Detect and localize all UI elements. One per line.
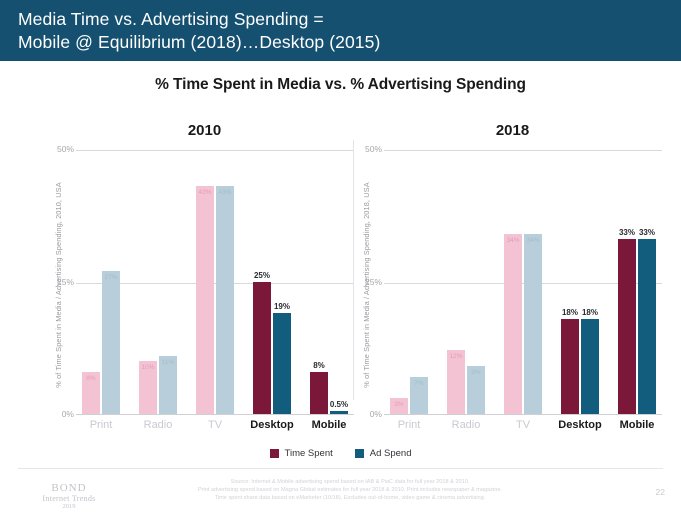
bar-group-print[interactable]: 3%7%Print <box>390 150 428 414</box>
bar-value-desktop-ad-spend: 19% <box>262 302 302 311</box>
bar-group-tv[interactable]: 43%43%TV <box>196 150 234 414</box>
x-axis-line <box>76 414 354 415</box>
bar-mobile-ad-spend[interactable] <box>330 411 348 414</box>
y-tick-0%: 0% <box>360 410 382 419</box>
bar-groups: 3%7%Print12%9%Radio34%34%TV18%18%Desktop… <box>384 150 662 414</box>
logo-year-text: 2019 <box>26 503 112 510</box>
legend-item-time-spent[interactable]: Time Spent <box>270 448 333 459</box>
source-note: Source: Internet & Mobile advertising sp… <box>120 478 580 502</box>
legend-item-ad-spend[interactable]: Ad Spend <box>355 448 412 459</box>
bar-wrap-radio-time-spent: 10% <box>139 150 157 414</box>
bar-group-print[interactable]: 8%27%Print <box>82 150 120 414</box>
bar-wrap-tv-ad-spend: 34% <box>524 150 542 414</box>
bar-group-tv[interactable]: 34%34%TV <box>504 150 542 414</box>
source-line-2: Print advertising spend based on Magna G… <box>120 486 580 494</box>
chart-panel-2010: 2010 % of Time Spent in Media / Advertis… <box>52 122 357 440</box>
bar-wrap-mobile-time-spent: 33% <box>618 150 636 414</box>
x-category-mobile: Mobile <box>312 419 347 431</box>
bar-tv-ad-spend[interactable] <box>216 186 234 414</box>
legend-swatch-ad-spend <box>355 449 364 458</box>
bond-logo: BOND Internet Trends 2019 <box>26 482 112 510</box>
bar-value-print-ad-spend: 27% <box>91 273 131 282</box>
bar-value-print-ad-spend: 7% <box>399 379 439 388</box>
bar-desktop-time-spent[interactable] <box>561 319 579 414</box>
bar-wrap-tv-time-spent: 34% <box>504 150 522 414</box>
bar-desktop-ad-spend[interactable] <box>273 313 291 414</box>
bar-value-desktop-ad-spend: 18% <box>570 308 610 317</box>
bar-value-tv-ad-spend: 34% <box>513 236 553 245</box>
y-tick-50%: 50% <box>52 145 74 154</box>
bar-value-mobile-ad-spend: 33% <box>627 228 667 237</box>
chart-panel-2018: 2018 % of Time Spent in Media / Advertis… <box>360 122 665 440</box>
x-category-radio: Radio <box>144 419 173 431</box>
legend-label-ad-spend: Ad Spend <box>370 448 412 459</box>
panel-divider <box>353 140 354 400</box>
banner-title-line-1: Media Time vs. Advertising Spending = <box>18 8 681 31</box>
bar-group-desktop[interactable]: 18%18%Desktop <box>561 150 599 414</box>
bar-group-radio[interactable]: 10%11%Radio <box>139 150 177 414</box>
x-category-print: Print <box>398 419 421 431</box>
y-tick-50%: 50% <box>360 145 382 154</box>
x-category-tv: TV <box>516 419 530 431</box>
x-category-print: Print <box>90 419 113 431</box>
bar-wrap-mobile-ad-spend: 33% <box>638 150 656 414</box>
bar-groups: 8%27%Print10%11%Radio43%43%TV25%19%Deskt… <box>76 150 354 414</box>
logo-main-text: BOND <box>26 482 112 494</box>
bar-wrap-desktop-time-spent: 25% <box>253 150 271 414</box>
bar-wrap-print-time-spent: 3% <box>390 150 408 414</box>
source-line-1: Source: Internet & Mobile advertising sp… <box>120 478 580 486</box>
bar-mobile-time-spent[interactable] <box>618 239 636 414</box>
bar-wrap-radio-ad-spend: 9% <box>467 150 485 414</box>
x-category-tv: TV <box>208 419 222 431</box>
y-tick-25%: 25% <box>360 278 382 287</box>
bar-wrap-mobile-ad-spend: 0.5% <box>330 150 348 414</box>
y-tick-25%: 25% <box>52 278 74 287</box>
bar-wrap-mobile-time-spent: 8% <box>310 150 328 414</box>
bar-tv-time-spent[interactable] <box>196 186 214 414</box>
logo-sub-text: Internet Trends <box>26 494 112 503</box>
bar-wrap-radio-ad-spend: 11% <box>159 150 177 414</box>
bar-group-mobile[interactable]: 33%33%Mobile <box>618 150 656 414</box>
bar-wrap-print-ad-spend: 27% <box>102 150 120 414</box>
y-tick-0%: 0% <box>52 410 74 419</box>
bar-group-desktop[interactable]: 25%19%Desktop <box>253 150 291 414</box>
bar-print-ad-spend[interactable] <box>102 271 120 414</box>
banner-bottom-rule <box>0 61 681 63</box>
bar-wrap-desktop-time-spent: 18% <box>561 150 579 414</box>
bar-tv-time-spent[interactable] <box>504 234 522 414</box>
legend-bottom-rule <box>18 468 663 469</box>
slide-header-banner: Media Time vs. Advertising Spending = Mo… <box>0 0 681 63</box>
chart-block-title: % Time Spent in Media vs. % Advertising … <box>0 76 681 94</box>
bar-group-radio[interactable]: 12%9%Radio <box>447 150 485 414</box>
page-number: 22 <box>656 487 665 497</box>
panel-title-2018: 2018 <box>360 122 665 139</box>
slide-root: Media Time vs. Advertising Spending = Mo… <box>0 0 681 520</box>
bar-wrap-tv-ad-spend: 43% <box>216 150 234 414</box>
plot-area-2018: 0%25%50%3%7%Print12%9%Radio34%34%TV18%18… <box>384 150 662 415</box>
bar-wrap-desktop-ad-spend: 19% <box>273 150 291 414</box>
bar-group-mobile[interactable]: 8%0.5%Mobile <box>310 150 348 414</box>
bar-wrap-desktop-ad-spend: 18% <box>581 150 599 414</box>
plot-area-2010: 0%25%50%8%27%Print10%11%Radio43%43%TV25%… <box>76 150 354 415</box>
bar-value-radio-ad-spend: 11% <box>148 358 188 367</box>
x-category-desktop: Desktop <box>250 419 293 431</box>
bar-tv-ad-spend[interactable] <box>524 234 542 414</box>
chart-legend: Time Spent Ad Spend <box>0 448 681 459</box>
bar-desktop-ad-spend[interactable] <box>581 319 599 414</box>
x-category-desktop: Desktop <box>558 419 601 431</box>
source-line-3: Time spent share data based on eMarketer… <box>120 494 580 502</box>
bar-wrap-print-ad-spend: 7% <box>410 150 428 414</box>
x-category-mobile: Mobile <box>620 419 655 431</box>
legend-swatch-time-spent <box>270 449 279 458</box>
banner-title-line-2: Mobile @ Equilibrium (2018)…Desktop (201… <box>18 31 681 54</box>
bar-mobile-ad-spend[interactable] <box>638 239 656 414</box>
bar-wrap-print-time-spent: 8% <box>82 150 100 414</box>
legend-label-time-spent: Time Spent <box>285 448 333 459</box>
bar-value-mobile-ad-spend: 0.5% <box>319 400 359 409</box>
x-category-radio: Radio <box>452 419 481 431</box>
bar-value-radio-ad-spend: 9% <box>456 368 496 377</box>
x-axis-line <box>384 414 662 415</box>
bar-value-tv-ad-spend: 43% <box>205 188 245 197</box>
panel-title-2010: 2010 <box>52 122 357 139</box>
